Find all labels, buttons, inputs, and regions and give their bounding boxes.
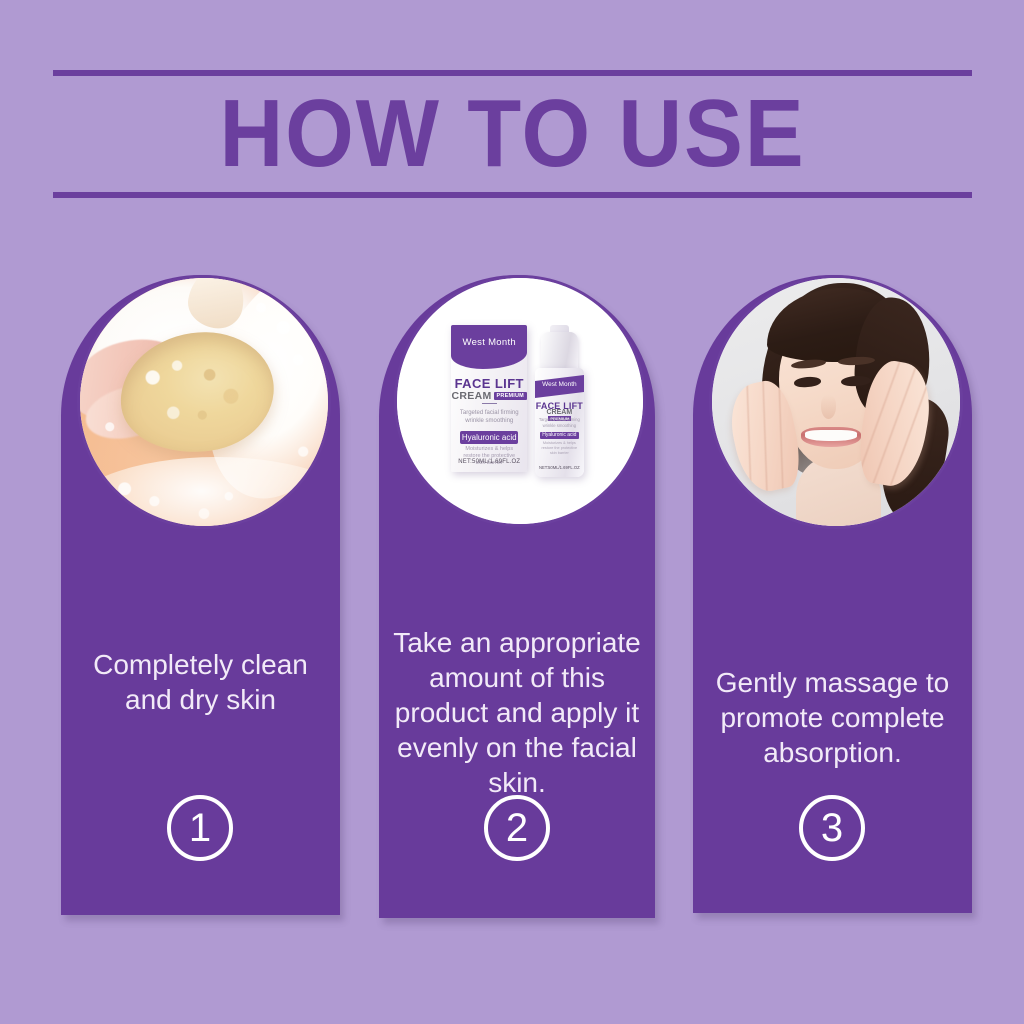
step-1-photo (77, 275, 331, 529)
step-2-number-badge: 2 (484, 795, 550, 861)
step-3-caption: Gently massage to promote complete absor… (699, 665, 966, 770)
step-3-photo (709, 275, 963, 529)
bottle-body: West Month FACE LIFT CREAMPREMIUM Target… (535, 368, 584, 477)
carton-description: Targeted facial firming wrinkle smoothin… (457, 409, 521, 425)
header: HOW TO USE (53, 70, 972, 198)
carton-brand: West Month (451, 337, 527, 348)
carton-ingredient-chip: Hyaluronic acid (460, 431, 518, 444)
face-lift-cream-product-photo: West Month FACE LIFT CREAMPREMIUM Target… (397, 278, 643, 524)
bottle-cream-label: CREAM (547, 409, 573, 416)
step-3-number: 3 (821, 808, 843, 848)
foam-sponge-cleansing-photo (80, 278, 328, 526)
step-1-number-badge: 1 (167, 795, 233, 861)
bottle-pump-cap (541, 332, 578, 370)
bottle-brand: West Month (535, 381, 584, 388)
step-1-caption: Completely clean and dry skin (67, 647, 334, 717)
carton-net-weight: NET:50ML/1.69FL.OZ (451, 459, 527, 465)
infographic-canvas: HOW TO USE 1 Completely clean and dry sk… (0, 0, 1024, 1024)
product-carton: West Month FACE LIFT CREAMPREMIUM Target… (451, 325, 527, 473)
bottle-ingredient-description: Moisturizes & helps restore the protecti… (540, 441, 579, 456)
step-2-caption: Take an appropriate amount of this produ… (383, 625, 651, 800)
carton-product-sub: CREAMPREMIUM (451, 390, 527, 402)
carton-premium-tag: PREMIUM (494, 392, 527, 400)
step-card-1: 1 Completely clean and dry skin (61, 275, 340, 915)
header-rule-top (53, 70, 972, 76)
step-2-number: 2 (506, 808, 528, 848)
carton-divider (482, 403, 497, 405)
step-1-number: 1 (189, 808, 211, 848)
step-3-number-badge: 3 (799, 795, 865, 861)
step-card-2: West Month FACE LIFT CREAMPREMIUM Target… (379, 275, 655, 918)
step-card-3: 3 Gently massage to promote complete abs… (693, 275, 972, 913)
bottle-net-weight: NET:50ML/1.69FL.OZ (535, 465, 584, 470)
bottle-ingredient-chip: Hyaluronic acid (540, 432, 579, 440)
bottle-description: Targeted facial firming wrinkle smoothin… (539, 417, 580, 428)
woman-massaging-face-photo (712, 278, 960, 526)
step-2-photo: West Month FACE LIFT CREAMPREMIUM Target… (394, 275, 646, 527)
carton-cream-label: CREAM (452, 390, 492, 402)
product-bottle: West Month FACE LIFT CREAMPREMIUM Target… (535, 332, 584, 477)
page-title: HOW TO USE (90, 80, 935, 188)
header-rule-bottom (53, 192, 972, 198)
carton-product-name: FACE LIFT (451, 376, 527, 391)
